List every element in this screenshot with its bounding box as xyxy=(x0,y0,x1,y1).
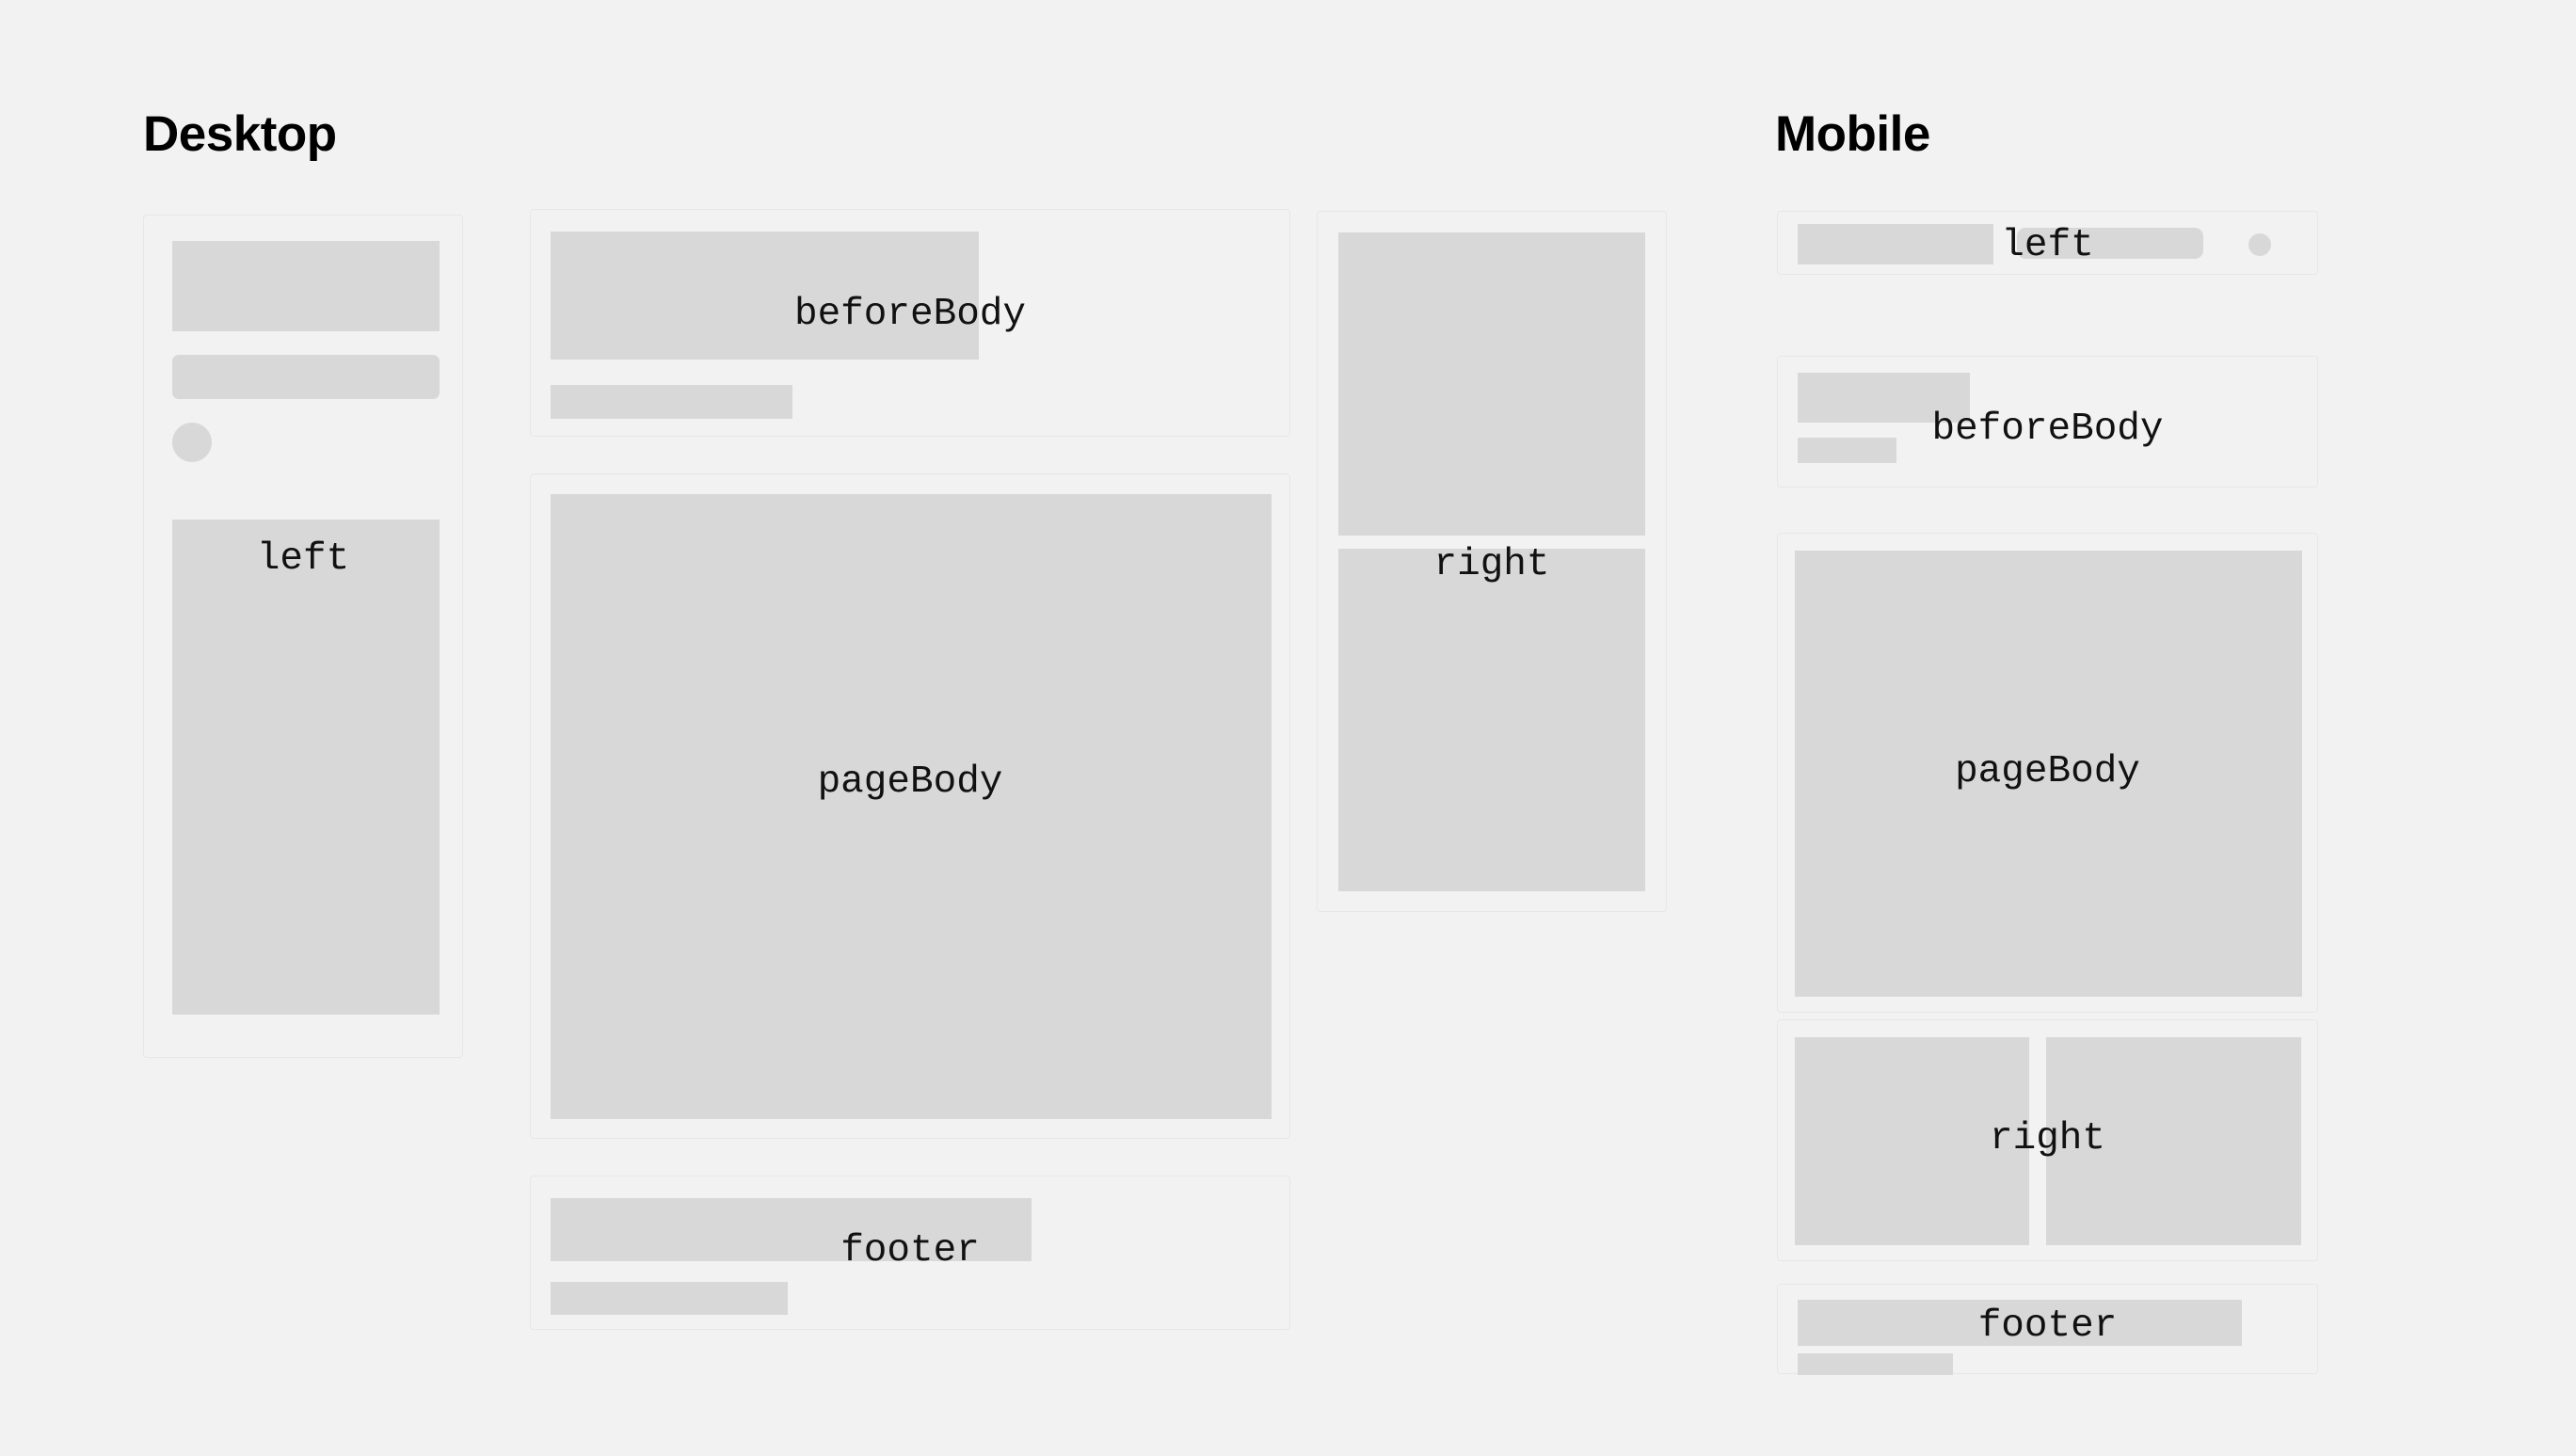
placeholder-block xyxy=(1338,549,1645,891)
desktop-right-panel[interactable] xyxy=(1317,211,1667,912)
placeholder-rounded-bar xyxy=(2017,228,2203,259)
placeholder-bar xyxy=(1798,438,1896,463)
placeholder-bar xyxy=(551,385,792,419)
mobile-left-panel[interactable] xyxy=(1777,211,2318,275)
placeholder-bar xyxy=(551,1282,788,1315)
placeholder-block xyxy=(172,241,440,331)
placeholder-rounded-bar xyxy=(172,355,440,399)
placeholder-block xyxy=(1795,551,2302,997)
placeholder-block xyxy=(551,232,979,360)
placeholder-block xyxy=(551,494,1272,1119)
mobile-beforebody-panel[interactable] xyxy=(1777,356,2318,488)
placeholder-block xyxy=(1798,224,1993,264)
placeholder-block xyxy=(551,1198,1032,1261)
placeholder-block xyxy=(2046,1037,2301,1245)
desktop-left-panel[interactable] xyxy=(143,215,463,1058)
placeholder-bar xyxy=(1798,1353,1953,1375)
desktop-section-heading: Desktop xyxy=(143,109,337,159)
placeholder-tall-block xyxy=(172,520,440,1015)
mobile-section-heading: Mobile xyxy=(1775,109,1930,159)
desktop-footer-panel[interactable] xyxy=(530,1176,1290,1330)
desktop-pagebody-panel[interactable] xyxy=(530,473,1290,1139)
placeholder-block xyxy=(1795,1037,2029,1245)
placeholder-circle-avatar xyxy=(2248,233,2271,256)
placeholder-circle-avatar xyxy=(172,423,212,462)
mobile-right-panel[interactable] xyxy=(1777,1019,2318,1261)
placeholder-block xyxy=(1338,232,1645,536)
placeholder-block xyxy=(1798,373,1970,423)
desktop-beforebody-panel[interactable] xyxy=(530,209,1290,437)
placeholder-block xyxy=(1798,1300,2242,1346)
mobile-pagebody-panel[interactable] xyxy=(1777,533,2318,1013)
mobile-footer-panel[interactable] xyxy=(1777,1284,2318,1374)
